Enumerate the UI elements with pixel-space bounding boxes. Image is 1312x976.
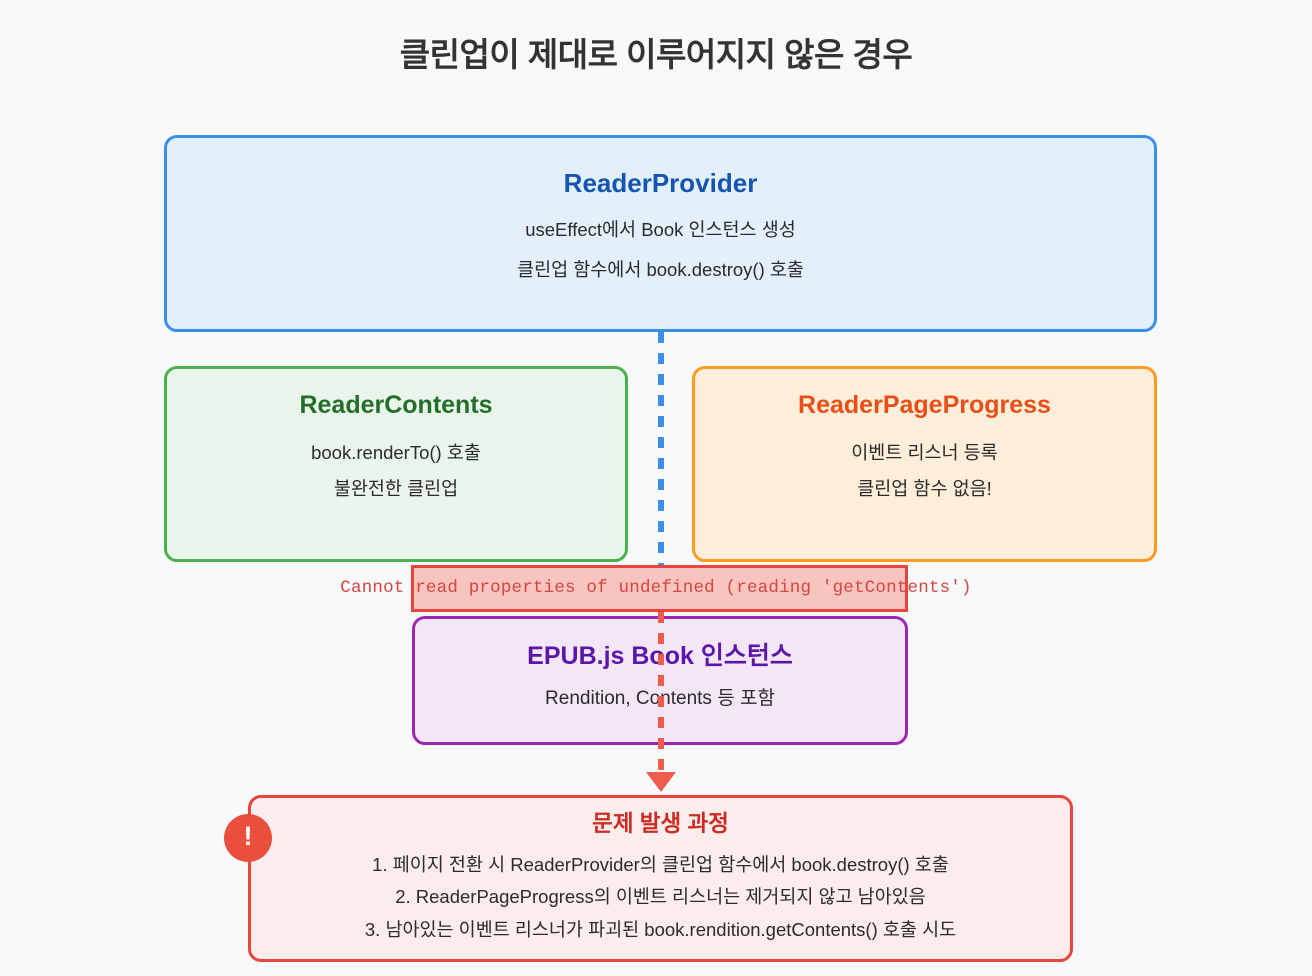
node-reader-page-progress-title: ReaderPageProgress xyxy=(798,390,1051,420)
node-reader-page-progress-line-1: 이벤트 리스너 등록 xyxy=(851,441,997,464)
node-reader-provider-line-1: useEffect에서 Book 인스턴스 생성 xyxy=(525,218,796,241)
node-reader-provider-line-2: 클린업 함수에서 book.destroy() 호출 xyxy=(517,258,804,281)
diagram-canvas: 클린업이 제대로 이루어지지 않은 경우 ReaderProvider useE… xyxy=(0,0,1312,976)
arrow-down-icon xyxy=(646,772,676,792)
alert-exclamation-icon: ! xyxy=(224,814,272,862)
node-reader-contents-title: ReaderContents xyxy=(299,390,492,420)
node-reader-page-progress-line-2: 클린업 함수 없음! xyxy=(857,477,992,500)
node-problem-flow-step-3: 3. 남아있는 이벤트 리스너가 파괴된 book.rendition.getC… xyxy=(365,918,956,941)
node-reader-page-progress: ReaderPageProgress 이벤트 리스너 등록 클린업 함수 없음! xyxy=(692,366,1157,562)
connector-epub-to-problem-dashed-line xyxy=(658,612,664,775)
node-problem-flow-step-1: 1. 페이지 전환 시 ReaderProvider의 클린업 함수에서 boo… xyxy=(372,853,949,876)
node-reader-provider-title: ReaderProvider xyxy=(564,168,758,199)
page-title: 클린업이 제대로 이루어지지 않은 경우 xyxy=(0,28,1312,76)
node-reader-provider: ReaderProvider useEffect에서 Book 인스턴스 생성 … xyxy=(164,135,1157,332)
node-problem-flow-title: 문제 발생 과정 xyxy=(592,810,729,837)
connector-provider-to-children-dashed-line xyxy=(658,332,664,568)
node-problem-flow-step-2: 2. ReaderPageProgress의 이벤트 리스너는 제거되지 않고 … xyxy=(395,885,926,908)
node-problem-flow: 문제 발생 과정 1. 페이지 전환 시 ReaderProvider의 클린업… xyxy=(248,795,1073,962)
node-reader-contents-line-1: book.renderTo() 호출 xyxy=(311,441,481,464)
node-reader-contents: ReaderContents book.renderTo() 호출 불완전한 클… xyxy=(164,366,628,562)
node-reader-contents-line-2: 불완전한 클린업 xyxy=(334,477,458,500)
error-banner-text: Cannot read properties of undefined (rea… xyxy=(0,578,1312,598)
